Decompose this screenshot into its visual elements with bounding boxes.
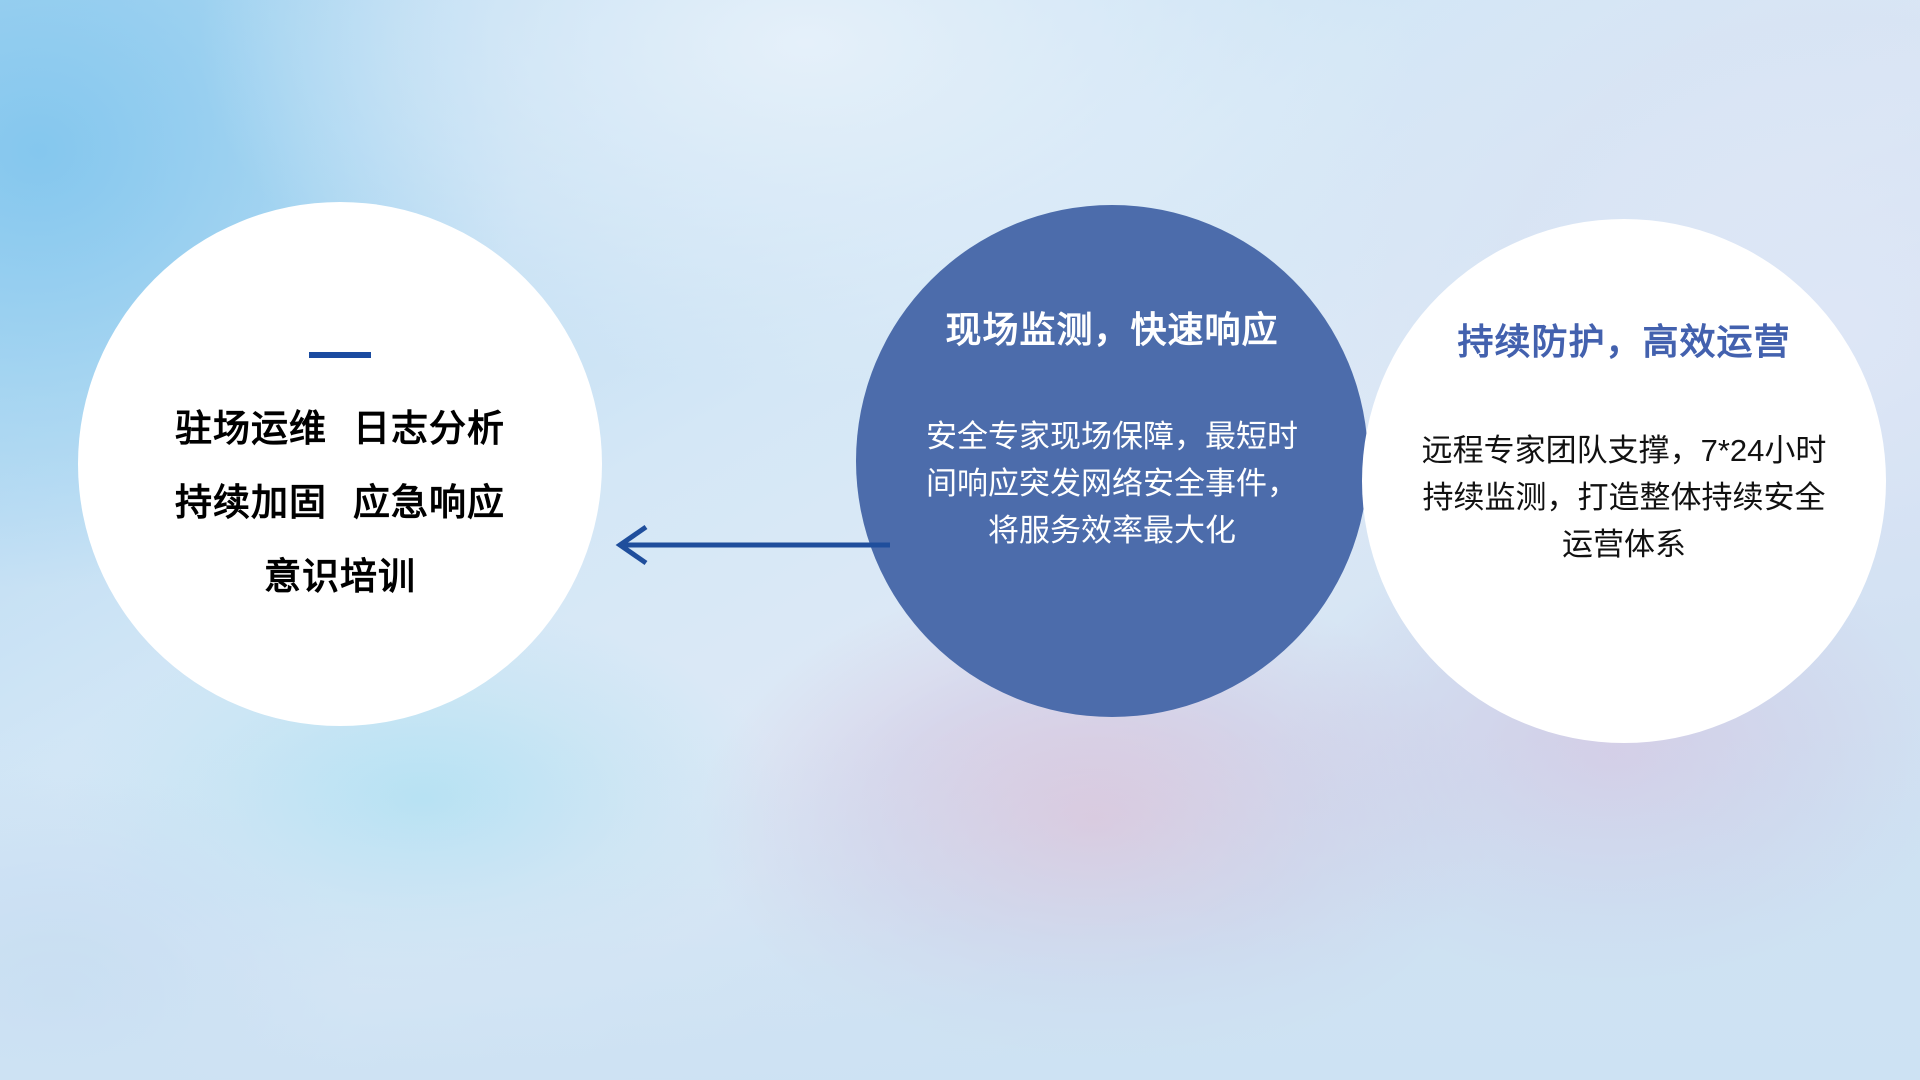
capability-item-yishipeixun: 意识培训 xyxy=(264,556,416,597)
capability-item-rizhifenxi: 日志分析 xyxy=(353,408,505,449)
capability-circle: 驻场运维日志分析 持续加固应急响应 意识培训 xyxy=(78,202,602,726)
capability-row-1: 驻场运维日志分析 xyxy=(175,410,505,447)
onsite-monitoring-body: 安全专家现场保障，最短时间响应突发网络安全事件，将服务效率最大化 xyxy=(922,413,1302,554)
capability-item-yingjixiangying: 应急响应 xyxy=(353,482,505,523)
onsite-monitoring-circle: 现场监测，快速响应 安全专家现场保障，最短时间响应突发网络安全事件，将服务效率最… xyxy=(856,205,1368,717)
slide-canvas: 驻场运维日志分析 持续加固应急响应 意识培训 现场监测，快速响应 安全专家现场保… xyxy=(0,0,1920,1080)
onsite-monitoring-content: 现场监测，快速响应 安全专家现场保障，最短时间响应突发网络安全事件，将服务效率最… xyxy=(856,205,1368,717)
capability-item-zhuchangyunwei: 驻场运维 xyxy=(175,408,327,449)
onsite-monitoring-title: 现场监测，快速响应 xyxy=(945,301,1278,353)
capability-circle-content: 驻场运维日志分析 持续加固应急响应 意识培训 xyxy=(78,202,602,726)
divider-dash-icon xyxy=(309,352,371,358)
continuous-protection-content: 持续防护，高效运营 远程专家团队支撑，7*24小时持续监测，打造整体持续安全运营… xyxy=(1362,219,1886,743)
capability-row-3: 意识培训 xyxy=(264,558,416,595)
continuous-protection-title: 持续防护，高效运营 xyxy=(1457,313,1790,365)
continuous-protection-body: 远程专家团队支撑，7*24小时持续监测，打造整体持续安全运营体系 xyxy=(1409,427,1839,568)
capability-item-chixujiagu: 持续加固 xyxy=(175,482,327,523)
leftward-arrow-icon xyxy=(600,512,890,578)
capability-row-2: 持续加固应急响应 xyxy=(175,484,505,521)
continuous-protection-circle: 持续防护，高效运营 远程专家团队支撑，7*24小时持续监测，打造整体持续安全运营… xyxy=(1362,219,1886,743)
